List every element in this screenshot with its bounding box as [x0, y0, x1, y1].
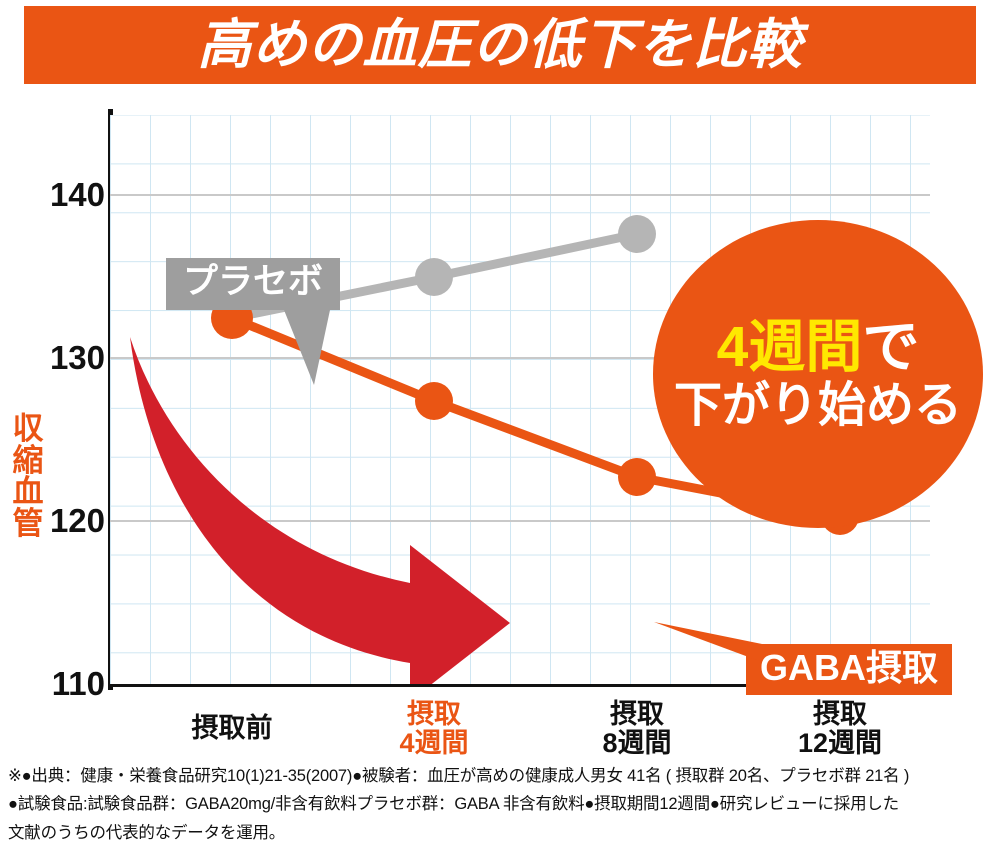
placebo-point-8week	[618, 215, 656, 253]
callout-placebo: プラセボ	[166, 258, 340, 310]
page-title: 高めの血圧の低下を比較	[198, 18, 803, 72]
callout-placebo-tail	[284, 310, 344, 385]
chart-container: 収縮血管 140 130 120 110	[0, 95, 1000, 705]
x-label-8week-line1: 摂取	[610, 699, 664, 729]
footnotes: ※●出典：健康・栄養食品研究10(1)21-35(2007)●被験者：血圧が高め…	[8, 762, 998, 847]
gaba-point-4week	[415, 382, 453, 420]
placebo-point-4week	[415, 258, 453, 296]
footnote-line-1: ※●出典：健康・栄養食品研究10(1)21-35(2007)●被験者：血圧が高め…	[8, 762, 998, 790]
y-tick-130: 130	[5, 339, 105, 377]
y-axis-ticks: 140 130 120 110	[0, 95, 105, 705]
x-axis-labels: 摂取前 摂取 4週間 摂取 8週間 摂取 12週間	[0, 700, 1000, 762]
x-label-baseline-line1: 摂取前	[192, 713, 273, 743]
badge-line-1-suffix: で	[862, 315, 919, 379]
title-banner: 高めの血圧の低下を比較	[24, 6, 976, 84]
callout-gaba: GABA摂取	[746, 644, 952, 695]
highlight-badge: 4週間で 下がり始める	[653, 220, 983, 528]
x-label-8week-line2: 8週間	[602, 729, 671, 758]
infographic-root: 高めの血圧の低下を比較 収縮血管 140 130 120 110	[0, 0, 1000, 852]
footnote-line-3: 文献のうちの代表的なデータを運用。	[8, 819, 998, 847]
callout-gaba-tail	[654, 622, 764, 670]
x-label-12week-line1: 摂取	[813, 699, 867, 729]
x-label-4week-line1: 摂取	[407, 699, 461, 729]
footnote-line-2: ●試験食品:試験食品群：GABA20mg/非含有飲料プラセボ群：GABA 非含有…	[8, 790, 998, 818]
badge-highlight-text: 4週間	[717, 315, 863, 379]
y-tick-110: 110	[5, 665, 105, 703]
x-label-12week-line2: 12週間	[798, 729, 882, 758]
badge-line-1: 4週間で	[717, 319, 920, 376]
x-label-4week-line2: 4週間	[399, 729, 468, 758]
x-label-8week: 摂取 8週間	[602, 700, 671, 757]
callout-gaba-label: GABA摂取	[760, 648, 938, 688]
y-tick-120: 120	[5, 502, 105, 540]
callout-placebo-label: プラセボ	[183, 263, 323, 302]
badge-line-2: 下がり始める	[674, 382, 962, 430]
gaba-point-8week	[618, 458, 656, 496]
x-label-baseline: 摂取前	[192, 714, 273, 743]
x-label-4week: 摂取 4週間	[399, 700, 468, 757]
x-label-12week: 摂取 12週間	[798, 700, 882, 757]
y-tick-140: 140	[5, 176, 105, 214]
